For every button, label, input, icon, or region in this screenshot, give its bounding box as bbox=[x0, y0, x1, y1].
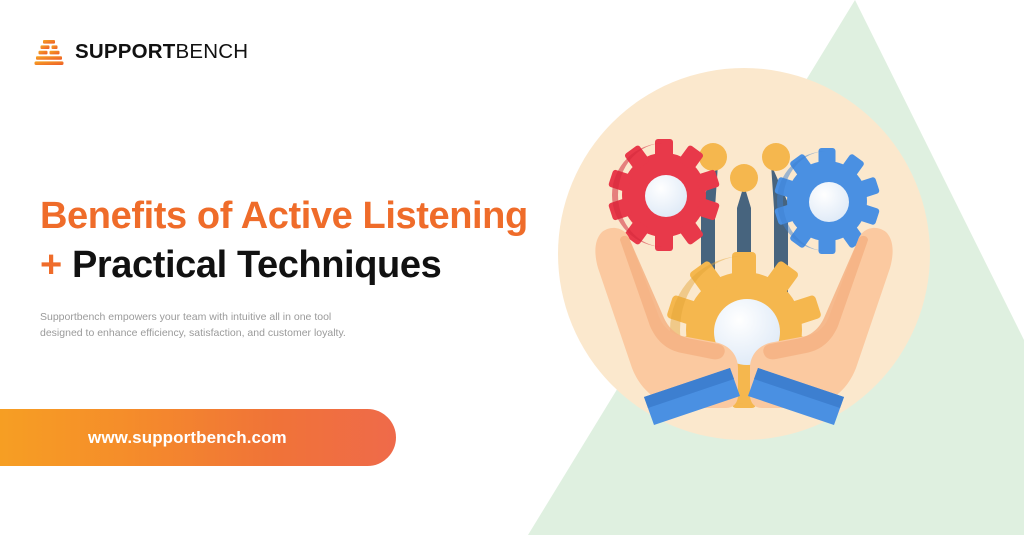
supportbench-stack-icon bbox=[34, 38, 64, 66]
website-url-banner[interactable]: www.supportbench.com bbox=[0, 409, 396, 466]
subtitle-line-1: Supportbench empowers your team with int… bbox=[40, 309, 385, 325]
red-gear-hub bbox=[645, 175, 687, 217]
subtitle-text: Supportbench empowers your team with int… bbox=[40, 309, 385, 342]
brand-name-bold: SUPPORT bbox=[75, 40, 176, 63]
headline-line-1: Benefits of Active Listening bbox=[40, 192, 528, 241]
plus-symbol: + bbox=[40, 244, 62, 286]
headline-line-2: + Practical Techniques bbox=[40, 241, 528, 290]
antenna-ball-center bbox=[730, 164, 758, 192]
subtitle-line-2: designed to enhance efficiency, satisfac… bbox=[40, 325, 385, 341]
brand-name: SUPPORTBENCH bbox=[75, 42, 248, 63]
website-url-text: www.supportbench.com bbox=[88, 428, 287, 448]
antenna-ball-right bbox=[762, 143, 790, 171]
headline-line-2-text: Practical Techniques bbox=[72, 244, 441, 286]
blue-gear-hub bbox=[809, 182, 849, 222]
brand-logo[interactable]: SUPPORTBENCH bbox=[34, 38, 248, 66]
page-title: Benefits of Active Listening + Practical… bbox=[40, 192, 528, 291]
antenna-ball-left bbox=[699, 143, 727, 171]
hands-holding-gears-illustration bbox=[558, 68, 930, 440]
banner-canvas: SUPPORTBENCH Benefits of Active Listenin… bbox=[0, 0, 1024, 535]
brand-name-regular: BENCH bbox=[176, 40, 249, 63]
